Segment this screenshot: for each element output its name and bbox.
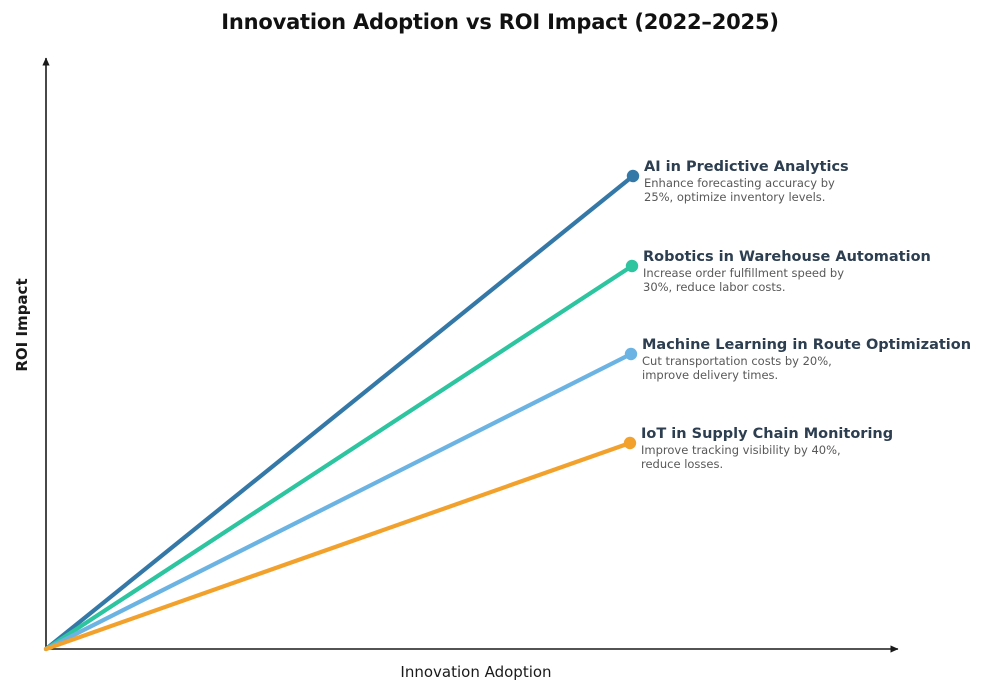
series-lines-group (46, 176, 633, 649)
series-annotation-description: Cut transportation costs by 20%, improve… (642, 354, 971, 382)
series-annotation: IoT in Supply Chain MonitoringImprove tr… (641, 426, 893, 471)
x-axis-label: Innovation Adoption (0, 663, 952, 681)
series-endpoint-marker[interactable] (624, 437, 636, 449)
series-annotation: Robotics in Warehouse AutomationIncrease… (643, 249, 931, 294)
series-annotation-title: Machine Learning in Route Optimization (642, 337, 971, 354)
series-line (46, 443, 630, 649)
series-endpoint-marker[interactable] (626, 260, 638, 272)
series-endpoint-marker[interactable] (627, 170, 639, 182)
series-line (46, 266, 632, 649)
series-line (46, 354, 631, 649)
series-annotation-title: Robotics in Warehouse Automation (643, 249, 931, 266)
series-annotation-description: Enhance forecasting accuracy by 25%, opt… (644, 176, 849, 204)
chart-container: Innovation Adoption vs ROI Impact (2022–… (0, 0, 1000, 700)
series-annotation: Machine Learning in Route OptimizationCu… (642, 337, 971, 382)
series-annotation-description: Improve tracking visibility by 40%, redu… (641, 443, 893, 471)
series-annotation: AI in Predictive AnalyticsEnhance foreca… (644, 159, 849, 204)
series-annotation-title: IoT in Supply Chain Monitoring (641, 426, 893, 443)
y-axis-label: ROI Impact (13, 275, 31, 375)
series-markers-group (624, 170, 639, 449)
series-annotation-description: Increase order fulfillment speed by 30%,… (643, 266, 931, 294)
series-annotation-title: AI in Predictive Analytics (644, 159, 849, 176)
series-line (46, 176, 633, 649)
series-endpoint-marker[interactable] (625, 348, 637, 360)
